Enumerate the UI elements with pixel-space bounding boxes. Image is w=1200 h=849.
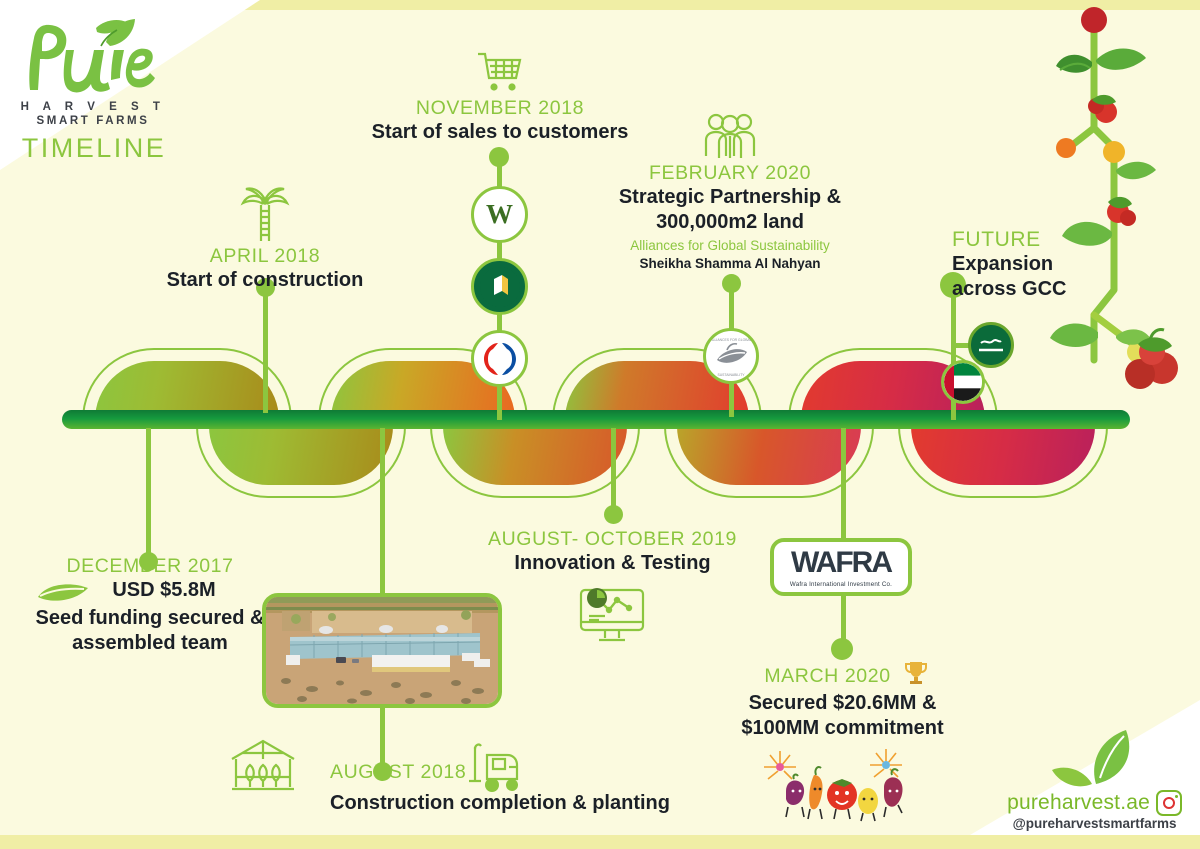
main-timeline-bar [62,410,1130,429]
stem-mar-2020 [841,428,846,538]
wafra-partner-card: WAFRA Wafra International Investment Co. [770,538,912,596]
trophy-icon [903,659,929,685]
event-date: AUGUST- OCTOBER 2019 [480,528,745,551]
logo-smartfarms-text: SMART FARMS [18,115,168,127]
wafra-logo-subtext: Wafra International Investment Co. [790,581,892,588]
instagram-icon[interactable] [1156,790,1182,816]
event-aug-oct-2019: AUGUST- OCTOBER 2019 Innovation & Testin… [480,528,745,646]
brand-logo: H A R V E S T SMART FARMS TIMELINE [18,18,238,164]
spinneys-mark-icon [480,267,520,307]
wafra-logo-text: WAFRA [791,546,891,580]
arc-2 [196,426,406,498]
aerial-greenhouse-photo [262,593,502,708]
event-title-line2: assembled team [10,631,290,656]
event-amount: USD $5.8M [10,578,290,603]
pure-wordmark-icon [18,18,203,98]
event-date: DECEMBER 2017 [10,555,290,578]
footer: pureharvest.ae @pureharvestsmartfarms [1007,726,1182,831]
bottom-border-stripe [0,835,1200,849]
people-group-icon [702,112,758,160]
event-title-line1: Start of construction [140,268,390,293]
farm-photo-content [266,597,498,704]
saudi-flag-icon [971,325,1011,365]
event-date: AUGUST 2018 [330,761,466,784]
event-date: APRIL 2018 [140,245,390,268]
carrefour-logo [471,330,528,387]
event-aug-2018: AUGUST 2018 Construction completion & pl… [220,737,780,816]
event-date: MARCH 2020 [715,665,970,688]
uae-flag-icon [944,363,982,401]
spinneys-logo [471,258,528,315]
event-person: Sheikha Shamma Al Nahyan [585,256,875,271]
veggie-characters-icon [758,745,928,825]
arc-4 [430,426,640,498]
event-mar-2020: MARCH 2020 Secured $20.6MM & $100MM comm… [715,665,970,825]
stem-apr-2018 [263,288,268,413]
logo-harvest-text: H A R V E S T [18,101,168,113]
arc-8 [898,426,1108,498]
palm-tree-icon [239,185,291,243]
dot-aug-oct-2019 [604,505,623,524]
saudi-flag [968,322,1014,368]
forklift-icon [465,741,525,795]
dot-nov-2018 [489,147,509,167]
dot-mar-2020 [831,638,853,660]
event-subtitle: Alliances for Global Sustainability [585,238,875,253]
ags-mark-icon: ALLIANCES FOR GLOBAL SUSTAINABILITY [707,332,755,380]
tomato-vine-illustration [1020,0,1200,400]
uae-flag [941,360,985,404]
website-link[interactable]: pureharvest.ae [1007,791,1150,815]
event-title-line1: Seed funding secured & [10,606,290,631]
event-dec-2017: DECEMBER 2017 USD $5.8M Seed funding sec… [10,555,290,656]
timeline-infographic: H A R V E S T SMART FARMS TIMELINE [0,0,1200,849]
event-title-line1: Strategic Partnership & [585,185,875,210]
stem-aug-oct-2019 [611,428,616,513]
event-title-line1: Innovation & Testing [480,551,745,576]
greenhouse-icon [226,737,300,795]
social-handle[interactable]: @pureharvestsmartfarms [1007,816,1182,831]
svg-text:SUSTAINABILITY: SUSTAINABILITY [717,373,745,377]
event-date: FEBRUARY 2020 [585,162,875,185]
event-apr-2018: APRIL 2018 Start of construction [140,185,390,293]
dot-feb-2020 [722,274,741,293]
event-title-line2: $100MM commitment [715,716,970,741]
event-feb-2020: FEBRUARY 2020 Strategic Partnership & 30… [585,112,875,271]
ags-emblem: ALLIANCES FOR GLOBAL SUSTAINABILITY [703,328,759,384]
event-title-line2: 300,000m2 land [585,210,875,235]
stem-dec-2017 [146,428,151,558]
page-title: TIMELINE [18,133,170,164]
waitrose-logo: W [471,186,528,243]
footer-links-row: pureharvest.ae [1007,790,1182,816]
shopping-cart-icon [476,50,524,94]
carrefour-mark-icon [477,339,523,379]
svg-text:ALLIANCES FOR GLOBAL: ALLIANCES FOR GLOBAL [710,338,751,342]
two-leaves-icon [1040,726,1150,788]
event-title-line1: Secured $20.6MM & [715,691,970,716]
monitor-analytics-icon [575,582,651,646]
